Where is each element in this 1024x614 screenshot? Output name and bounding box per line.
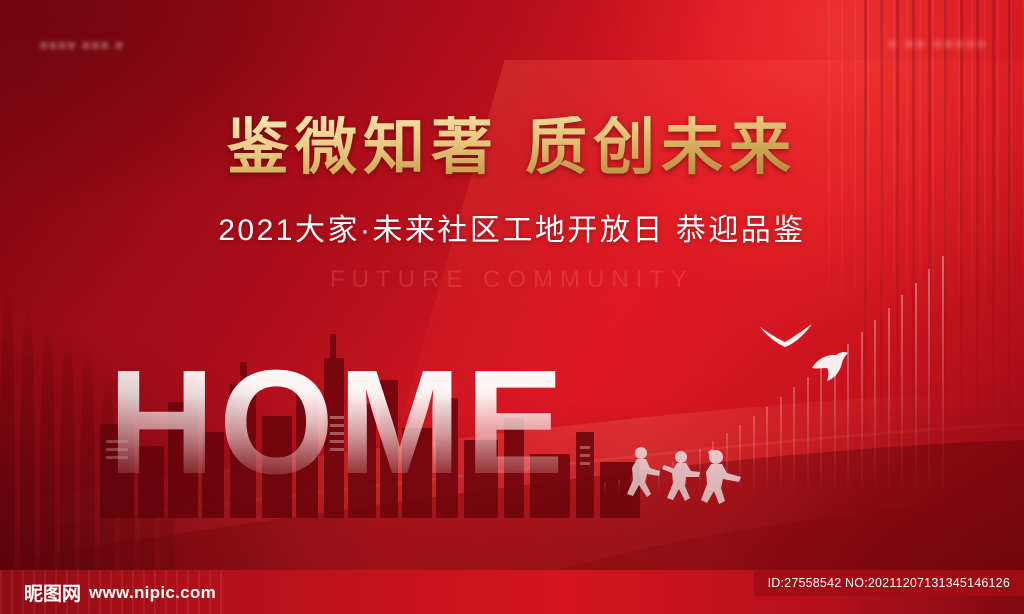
brand-logo-top-left: ■■■■ ■■■ ■ [40, 38, 125, 52]
page-subtitle: 2021大家·未来社区工地开放日 恭迎品鉴 [0, 205, 1024, 249]
eyebrow-text: FUTURE COMMUNITY [0, 266, 1024, 294]
dove-icon [808, 350, 850, 384]
brand-logo-top-right: ■ ■■ ■■■■■ [888, 36, 988, 51]
page-title: 鉴微知著质创未来 [0, 116, 1024, 180]
background-diagonal-overlay [0, 0, 1024, 614]
watermark-logo-text: 昵图网 [24, 579, 81, 606]
watermark-footer-bar: 昵图网 www.nipic.com ID:27558542 NO:2021120… [0, 570, 1024, 614]
seagull-icon [758, 322, 814, 352]
watermark-group: 昵图网 www.nipic.com [24, 579, 216, 606]
headline-part-1: 鉴微知著 [227, 114, 499, 182]
poster-canvas: HOME 鉴微知著质创未来 2021大家·未来社区工地开放日 恭迎品鉴 FUTU… [0, 0, 1024, 614]
asset-id-label: ID:27558542 NO:20211207131345146126 [754, 570, 1024, 596]
headline-part-2: 质创未来 [525, 114, 797, 182]
watermark-url[interactable]: www.nipic.com [89, 583, 216, 603]
running-children-silhouettes [624, 446, 744, 508]
